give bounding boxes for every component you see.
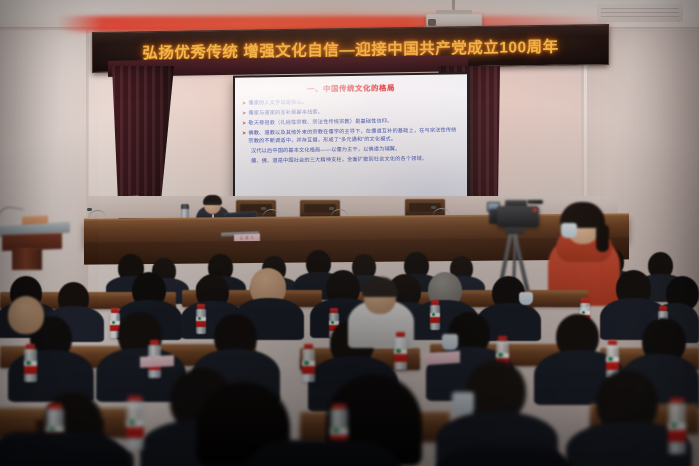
- slide-bullet-item: ➤ 佛教、道教以及其他外来的宗教在儒学的主导下，在儒道互补的基础上，在与宗法性传…: [242, 128, 460, 146]
- projection-screen-frame: 一、中国传统文化的格局 ➤ 儒家的人文学说是核心。 ➤ 儒家与道家的互补是基本线…: [233, 72, 469, 208]
- projector-lens: [428, 19, 436, 26]
- podium-microphone: [0, 206, 24, 222]
- bullet-arrow-icon: ➤: [242, 132, 246, 137]
- slide-bullet-text: 儒家与道家的互补是基本线索。: [248, 110, 323, 119]
- slide-bullet-list: ➤ 儒家的人文学说是核心。 ➤ 儒家与道家的互补是基本线索。 ➤ 敬天尊祖教（礼…: [242, 97, 460, 146]
- slide-title: 一、中国传统文化的格局: [242, 81, 460, 95]
- slide-bullet-item: ➤ 儒家的人文学说是核心。: [242, 97, 460, 108]
- bullet-arrow-icon: ➤: [242, 122, 246, 127]
- projection-screen: 一、中国传统文化的格局 ➤ 儒家的人文学说是核心。 ➤ 儒家与道家的互补是基本线…: [235, 74, 467, 205]
- conference-hall-photo: 弘扬优秀传统 增强文化自信—迎接中国共产党成立100周年 一、中国传统文化的格局…: [0, 0, 699, 466]
- slide-bullet-text: 佛教、道教以及其他外来的宗教在儒学的主导下，在儒道互补的基础上，在与宗法性传统宗…: [248, 128, 460, 146]
- bullet-arrow-icon: ➤: [242, 111, 246, 116]
- slide-bullet-text: 儒家的人文学说是核心。: [248, 100, 307, 108]
- slide-bullet-item: ➤ 儒家与道家的互补是基本线索。: [242, 108, 460, 119]
- camera-top-handle: [505, 200, 527, 207]
- presentation-slide: 一、中国传统文化的格局 ➤ 儒家的人文学说是核心。 ➤ 儒家与道家的互补是基本线…: [235, 74, 467, 205]
- thermos-cap: [181, 204, 189, 209]
- tripod-head: [505, 226, 525, 234]
- slide-bullet-item: ➤ 敬天尊祖教（礼俗性宗教、宗法性传统宗教）是基础性信仰。: [242, 118, 460, 129]
- camera-microphone: [527, 200, 543, 204]
- speaker-glasses: [205, 203, 220, 207]
- camera-record-indicator: [533, 208, 537, 212]
- air-vent: [597, 4, 683, 22]
- slide-bullet-text: 敬天尊祖教（礼俗性宗教、宗法性传统宗教）是基础性信仰。: [248, 119, 392, 129]
- bullet-arrow-icon: ➤: [242, 101, 246, 106]
- slide-paragraph: 儒、佛、道是中国社会的三大精神支柱，全面扩散到社会文化的各个领域。: [242, 156, 460, 167]
- podium-column: [12, 248, 42, 270]
